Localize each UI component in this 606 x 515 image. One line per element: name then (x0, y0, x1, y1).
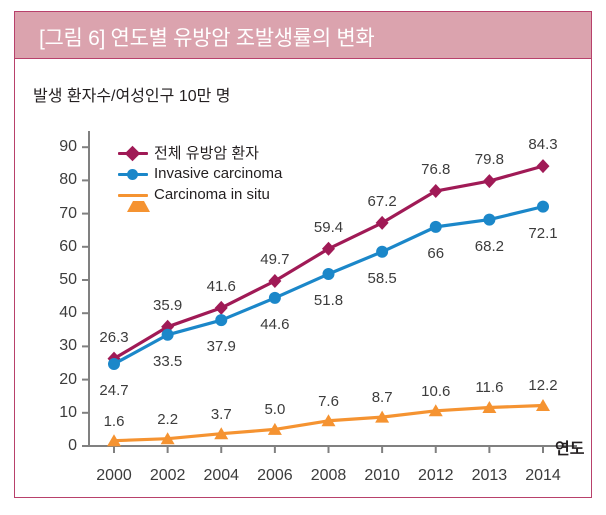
legend-item-insitu[interactable]: Carcinoma in situ (118, 184, 328, 205)
x-axis-tick: 2000 (87, 467, 141, 485)
y-axis-tick: 80 (49, 171, 77, 189)
diamond-marker-icon (118, 146, 148, 160)
plot-area: 전체 유방암 환자 Invasive carcinoma Carcinoma i… (15, 12, 593, 499)
data-point-label: 3.7 (198, 406, 244, 423)
y-axis-tick: 30 (49, 337, 77, 355)
legend-label-total: 전체 유방암 환자 (154, 142, 259, 163)
y-axis-tick: 70 (49, 205, 77, 223)
y-axis-tick: 0 (49, 437, 77, 455)
x-axis-tick: 2013 (462, 467, 516, 485)
data-point-label: 37.9 (198, 338, 244, 355)
legend-item-total[interactable]: 전체 유방암 환자 (118, 142, 328, 163)
data-point-label: 59.4 (306, 219, 352, 236)
x-axis-tick: 2008 (302, 467, 356, 485)
x-axis-title: 연도 (555, 435, 584, 459)
chart-legend: 전체 유방암 환자 Invasive carcinoma Carcinoma i… (118, 142, 328, 205)
y-axis-tick: 50 (49, 271, 77, 289)
legend-label-insitu: Carcinoma in situ (154, 186, 270, 203)
data-point-label: 2.2 (145, 411, 191, 428)
data-point-label: 84.3 (520, 136, 566, 153)
data-point-label: 68.2 (466, 238, 512, 255)
x-axis-tick: 2014 (516, 467, 570, 485)
legend-item-invasive[interactable]: Invasive carcinoma (118, 163, 328, 184)
data-point-label: 33.5 (145, 353, 191, 370)
data-point-label: 41.6 (198, 278, 244, 295)
data-point-label: 49.7 (252, 251, 298, 268)
data-point-label: 66 (413, 245, 459, 262)
data-point-label: 79.8 (466, 151, 512, 168)
data-point-label: 10.6 (413, 383, 459, 400)
y-axis-tick: 40 (49, 304, 77, 322)
data-point-label: 76.8 (413, 161, 459, 178)
chart-card: [그림 6] 연도별 유방암 조발생률의 변화 발생 환자수/여성인구 10만 … (14, 11, 592, 498)
circle-marker-icon (118, 167, 148, 181)
x-axis-tick: 2006 (248, 467, 302, 485)
data-point-label: 1.6 (91, 413, 137, 430)
data-point-label: 5.0 (252, 401, 298, 418)
data-point-label: 26.3 (91, 329, 137, 346)
data-point-label: 12.2 (520, 377, 566, 394)
data-point-label: 72.1 (520, 225, 566, 242)
data-point-label: 8.7 (359, 389, 405, 406)
x-axis-tick: 2002 (141, 467, 195, 485)
data-point-label: 51.8 (306, 292, 352, 309)
data-point-label: 24.7 (91, 382, 137, 399)
y-axis-tick: 20 (49, 371, 77, 389)
x-axis-tick: 2010 (355, 467, 409, 485)
data-point-label: 7.6 (306, 393, 352, 410)
data-point-label: 11.6 (466, 379, 512, 396)
y-axis-tick: 90 (49, 138, 77, 156)
x-axis-tick: 2004 (194, 467, 248, 485)
legend-label-invasive: Invasive carcinoma (154, 165, 282, 182)
triangle-marker-icon (118, 188, 148, 202)
data-point-label: 58.5 (359, 270, 405, 287)
data-point-label: 35.9 (145, 297, 191, 314)
data-point-label: 44.6 (252, 316, 298, 333)
data-point-label: 67.2 (359, 193, 405, 210)
x-axis-tick: 2012 (409, 467, 463, 485)
y-axis-tick: 10 (49, 404, 77, 422)
y-axis-tick: 60 (49, 238, 77, 256)
